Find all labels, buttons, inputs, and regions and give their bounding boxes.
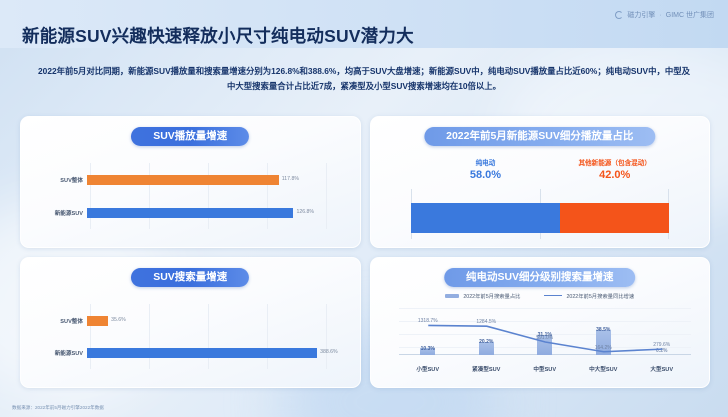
stacked-segment-name: 纯电动 — [411, 159, 561, 169]
bar-row: 新能源SUV126.8% — [35, 207, 348, 219]
brand-secondary-label: GIMC 世广集团 — [666, 10, 714, 20]
summary-text: 2022年前5月对比同期，新能源SUV播放量和搜索量增速分别为126.8%和38… — [34, 64, 694, 93]
bar-category-label: SUV整体 — [35, 317, 87, 325]
legend-label: 2022年前5月搜索量同比增速 — [566, 292, 634, 300]
chart-nev-play-share: 纯电动58.0%其他新能源（包含混动）42.0% — [411, 159, 670, 231]
chart-suv-search-growth: SUV整体35.6%新能源SUV388.6% — [35, 298, 348, 376]
bar-track: 117.8% — [87, 174, 348, 186]
stacked-segment-label: 其他新能源（包含混动）42.0% — [560, 159, 669, 183]
bar-track: 35.6% — [87, 315, 348, 327]
slide-root: 新能源SUV兴趣快速释放小尺寸纯电动SUV潜力大 磁力引擎 · GIMC 世广集… — [0, 0, 728, 417]
stacked-segment-name: 其他新能源（包含混动） — [560, 159, 669, 169]
x-axis-label: 大型SUV — [627, 365, 697, 373]
panel-nev-play-share: 2022年前5月新能源SUV细分播放量占比 纯电动58.0%其他新能源（包含混动… — [370, 116, 711, 248]
bar-value-label: 388.6% — [320, 349, 338, 355]
legend-item: 2022年前5月搜索量同比增速 — [544, 292, 634, 300]
legend-label: 2022年前5月搜索量占比 — [463, 292, 520, 300]
brand-primary-label: 磁力引擎 — [627, 10, 655, 20]
bar-row: SUV整体117.8% — [35, 174, 348, 186]
chart-legend: 2022年前5月搜索量占比2022年前5月搜索量同比增速 — [381, 290, 700, 302]
circle-logo-icon — [615, 11, 623, 19]
bar — [87, 348, 317, 358]
panel-suv-play-growth: SUV播放量增速 SUV整体117.8%新能源SUV126.8% — [20, 116, 361, 248]
bar-category-label: 新能源SUV — [35, 349, 87, 357]
bar — [87, 175, 279, 185]
bar-track: 388.6% — [87, 347, 348, 359]
chart-bev-class-search: 2022年前5月搜索量占比2022年前5月搜索量同比增速 10.3%1318.7… — [381, 290, 700, 380]
legend-line-swatch — [544, 295, 562, 297]
bar-track: 126.8% — [87, 207, 348, 219]
panel-title-suv-search-growth: SUV搜索量增速 — [131, 268, 249, 287]
chart-plot-area: 10.3%1318.7%20.2%1284.5%31.1%591.0%38.5%… — [399, 308, 692, 356]
brand-separator: · — [659, 12, 661, 19]
panel-bev-class-search: 纯电动SUV细分级别搜索量增速 2022年前5月搜索量占比2022年前5月搜索量… — [370, 257, 711, 389]
stacked-segment-value: 58.0% — [411, 169, 561, 183]
x-axis-labels: 小型SUV紧凑型SUV中型SUV中大型SUV大型SUV — [399, 363, 692, 375]
bar-row: SUV整体35.6% — [35, 315, 348, 327]
trend-line — [399, 308, 692, 356]
bar-category-label: SUV整体 — [35, 176, 87, 184]
stacked-segment — [411, 203, 561, 233]
bar — [87, 316, 108, 326]
panel-title-suv-play-growth: SUV播放量增速 — [131, 127, 249, 146]
stacked-segment-label: 纯电动58.0% — [411, 159, 561, 183]
bar-row: 新能源SUV388.6% — [35, 347, 348, 359]
bar-value-label: 117.8% — [282, 176, 299, 182]
panel-title-nev-play-share: 2022年前5月新能源SUV细分播放量占比 — [424, 127, 655, 146]
stacked-labels: 纯电动58.0%其他新能源（包含混动）42.0% — [411, 159, 670, 193]
legend-item: 2022年前5月搜索量占比 — [445, 292, 520, 300]
stacked-bar — [411, 203, 670, 233]
legend-bar-swatch — [445, 294, 459, 298]
chart-panel-grid: SUV播放量增速 SUV整体117.8%新能源SUV126.8% 2022年前5… — [20, 116, 710, 388]
stacked-segment-value: 42.0% — [560, 169, 669, 183]
bar-value-label: 126.8% — [296, 209, 314, 215]
chart-suv-play-growth: SUV整体117.8%新能源SUV126.8% — [35, 157, 348, 235]
slide-header: 新能源SUV兴趣快速释放小尺寸纯电动SUV潜力大 磁力引擎 · GIMC 世广集… — [0, 0, 728, 48]
page-title: 新能源SUV兴趣快速释放小尺寸纯电动SUV潜力大 — [22, 23, 414, 48]
source-note: 数据来源：2022年前5月磁力引擎2022年数据 — [12, 405, 104, 411]
bar — [87, 208, 293, 218]
panel-title-bev-class-search: 纯电动SUV细分级别搜索量增速 — [444, 268, 636, 287]
brand-logo: 磁力引擎 · GIMC 世广集团 — [615, 10, 714, 20]
bar-category-label: 新能源SUV — [35, 209, 87, 217]
bar-value-label: 35.6% — [111, 317, 126, 323]
panel-suv-search-growth: SUV搜索量增速 SUV整体35.6%新能源SUV388.6% — [20, 257, 361, 389]
stacked-segment — [560, 203, 669, 233]
